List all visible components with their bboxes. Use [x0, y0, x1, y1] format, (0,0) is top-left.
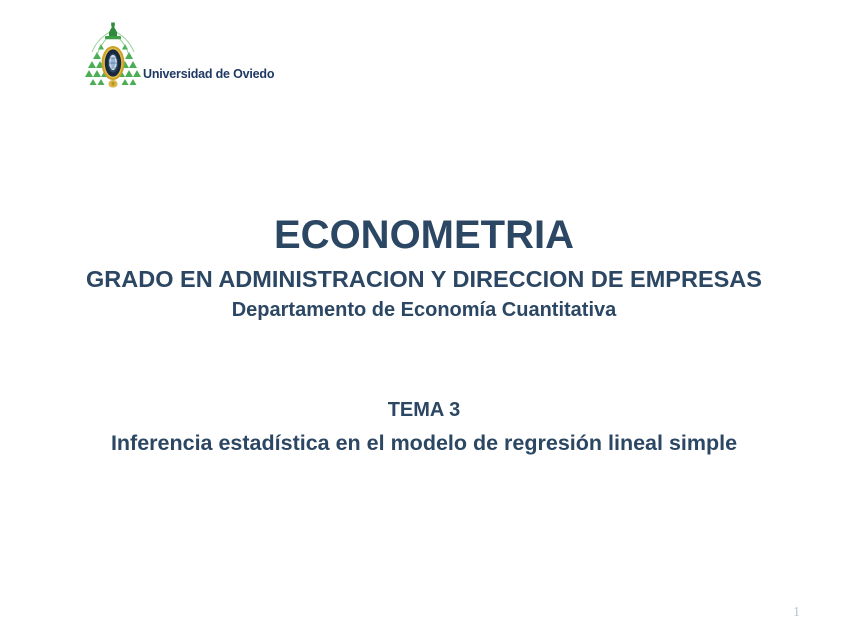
degree-title: GRADO EN ADMINISTRACION Y DIRECCION DE E… — [0, 265, 848, 293]
course-title: ECONOMETRIA — [0, 213, 848, 258]
topic-number: TEMA 3 — [0, 398, 848, 422]
page-number: 1 — [793, 606, 800, 620]
title-block: ECONOMETRIA GRADO EN ADMINISTRACION Y DI… — [0, 213, 848, 322]
university-logo-block: Universidad de Oviedo — [84, 22, 274, 88]
topic-block: TEMA 3 Inferencia estadística en el mode… — [0, 398, 848, 457]
department-title: Departamento de Economía Cuantitativa — [0, 298, 848, 322]
topic-subject: Inferencia estadística en el modelo de r… — [0, 431, 848, 457]
university-name-label: Universidad de Oviedo — [143, 68, 274, 81]
university-of-oviedo-crest-icon — [84, 22, 142, 88]
presentation-slide: Universidad de Oviedo ECONOMETRIA GRADO … — [0, 0, 848, 636]
